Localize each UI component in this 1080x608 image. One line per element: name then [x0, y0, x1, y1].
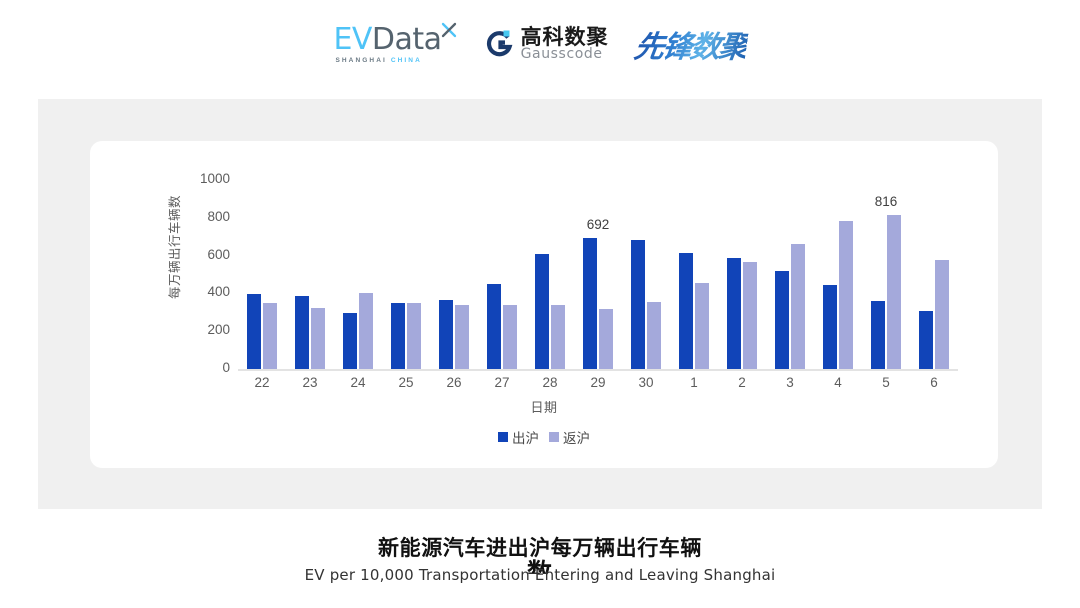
- bar-30-返沪: [647, 302, 661, 369]
- data-label: 692: [587, 217, 610, 232]
- bar-group: [910, 180, 958, 369]
- chart-legend: 出沪返沪: [90, 427, 998, 447]
- x-axis-tick-label: 23: [286, 375, 334, 390]
- bar-group: [814, 180, 862, 369]
- bar-group: [430, 180, 478, 369]
- bar-4-返沪: [839, 221, 853, 369]
- bar-24-返沪: [359, 293, 373, 369]
- bar-group: [766, 180, 814, 369]
- x-axis-tick-label: 24: [334, 375, 382, 390]
- x-axis-tick-label: 30: [622, 375, 670, 390]
- x-axis-tick-label: 29: [574, 375, 622, 390]
- bar-group: 816: [862, 180, 910, 369]
- x-axis-tick-label: 5: [862, 375, 910, 390]
- bar-29-返沪: [599, 309, 613, 369]
- data-label: 816: [875, 194, 898, 209]
- bar-5-出沪: [871, 301, 885, 369]
- bar-group: [670, 180, 718, 369]
- x-axis-tick-label: 4: [814, 375, 862, 390]
- y-axis-tick-label: 0: [184, 360, 230, 375]
- bar-27-出沪: [487, 284, 501, 369]
- y-axis-title: 每万辆出行车辆数: [164, 195, 183, 299]
- bar-group: 692: [574, 180, 622, 369]
- logo-xianfeng: 先锋数聚: [635, 22, 747, 66]
- plot-area: 692816: [238, 180, 958, 369]
- bar-group: [526, 180, 574, 369]
- xianfeng-name-cn: 先锋数聚: [631, 22, 749, 66]
- logo-bar: EV Data SHANGHAI CHINA: [0, 22, 1080, 66]
- bar-29-出沪: [583, 238, 597, 369]
- x-axis-tick-label: 3: [766, 375, 814, 390]
- x-axis-baseline: [238, 369, 958, 371]
- bar-group: [286, 180, 334, 369]
- x-axis-tick-label: 28: [526, 375, 574, 390]
- evdata-wordmark: EV Data: [333, 25, 457, 55]
- bar-group: [334, 180, 382, 369]
- bar-group: [718, 180, 766, 369]
- caption-subtitle: EV per 10,000 Transportation Entering an…: [0, 566, 1080, 584]
- evdata-tagline: SHANGHAI CHINA: [335, 57, 421, 64]
- logo-evdata: EV Data SHANGHAI CHINA: [333, 25, 457, 64]
- bar-23-出沪: [295, 296, 309, 369]
- gausscode-g-icon: [484, 29, 514, 59]
- x-axis-tick-label: 27: [478, 375, 526, 390]
- evdata-tagline-shanghai: SHANGHAI: [335, 57, 386, 64]
- bar-25-出沪: [391, 303, 405, 369]
- bar-5-返沪: [887, 215, 901, 369]
- bar-30-出沪: [631, 240, 645, 369]
- y-axis-tick-label: 400: [184, 284, 230, 299]
- evdata-ev-text: EV: [333, 25, 371, 55]
- slide-root: EV Data SHANGHAI CHINA: [0, 0, 1080, 608]
- evdata-tagline-china: CHINA: [391, 57, 422, 64]
- legend-label: 出沪: [512, 427, 539, 447]
- bar-1-返沪: [695, 283, 709, 369]
- bar-27-返沪: [503, 305, 517, 369]
- bar-28-返沪: [551, 305, 565, 369]
- bar-26-出沪: [439, 300, 453, 369]
- evdata-x-icon: [440, 21, 458, 39]
- bar-2-出沪: [727, 258, 741, 369]
- x-axis-tick-label: 26: [430, 375, 478, 390]
- bar-6-返沪: [935, 260, 949, 369]
- y-axis-tick-label: 200: [184, 322, 230, 337]
- bar-3-返沪: [791, 244, 805, 369]
- legend-swatch: [549, 432, 559, 442]
- gausscode-name-en: Gausscode: [521, 47, 609, 61]
- bar-1-出沪: [679, 253, 693, 369]
- bar-6-出沪: [919, 311, 933, 369]
- y-axis-tick-label: 600: [184, 247, 230, 262]
- gausscode-wordmark: 高科数聚 Gausscode: [521, 27, 609, 62]
- bar-24-出沪: [343, 313, 357, 369]
- bar-23-返沪: [311, 308, 325, 369]
- bar-22-出沪: [247, 294, 261, 369]
- chart-card: 每万辆出行车辆数 02004006008001000 692816 222324…: [90, 141, 998, 468]
- bar-group: [382, 180, 430, 369]
- bar-25-返沪: [407, 303, 421, 369]
- gausscode-name-cn: 高科数聚: [521, 27, 609, 48]
- bar-26-返沪: [455, 305, 469, 369]
- x-axis-tick-label: 6: [910, 375, 958, 390]
- evdata-data-text: Data: [372, 25, 442, 55]
- y-axis-tick-label: 1000: [184, 171, 230, 186]
- bar-28-出沪: [535, 254, 549, 369]
- logo-gausscode: 高科数聚 Gausscode: [484, 27, 609, 62]
- x-axis-tick-label: 22: [238, 375, 286, 390]
- bar-2-返沪: [743, 262, 757, 369]
- legend-item-出沪[interactable]: 出沪: [498, 427, 539, 447]
- bar-4-出沪: [823, 285, 837, 369]
- x-axis-tick-label: 25: [382, 375, 430, 390]
- x-axis-tick-label: 2: [718, 375, 766, 390]
- caption-title: 新能源汽车进出沪每万辆出行车辆: [0, 532, 1080, 562]
- legend-swatch: [498, 432, 508, 442]
- legend-label: 返沪: [563, 427, 590, 447]
- legend-item-返沪[interactable]: 返沪: [549, 427, 590, 447]
- bar-chart: 每万辆出行车辆数 02004006008001000 692816 222324…: [90, 141, 998, 468]
- bar-group: [238, 180, 286, 369]
- x-axis-title: 日期: [90, 397, 998, 416]
- x-axis-tick-label: 1: [670, 375, 718, 390]
- bar-22-返沪: [263, 303, 277, 369]
- bar-3-出沪: [775, 271, 789, 369]
- y-axis-tick-label: 800: [184, 209, 230, 224]
- bar-group: [478, 180, 526, 369]
- bar-group: [622, 180, 670, 369]
